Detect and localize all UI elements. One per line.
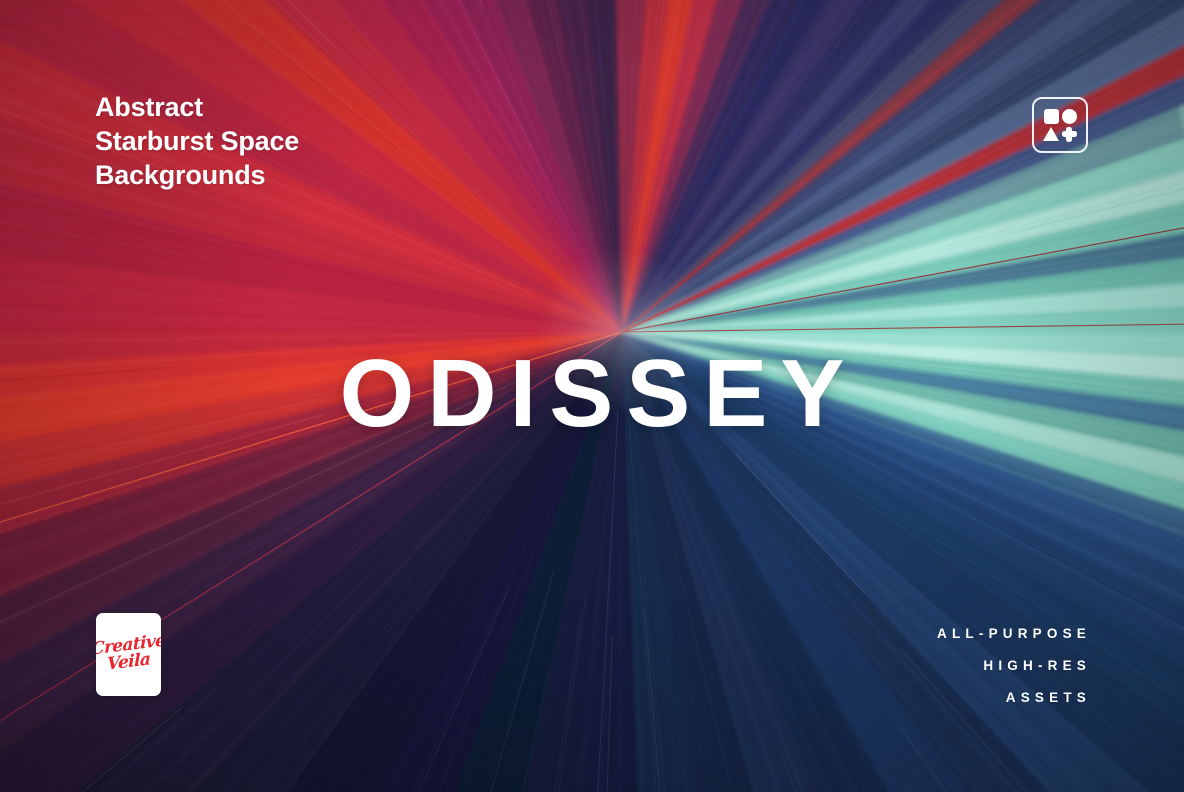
rounded-square-icon (1044, 109, 1059, 124)
headline-line-2: Starburst Space (95, 124, 299, 158)
headline-line-1: Abstract (95, 90, 299, 124)
tagline-line-3: ASSETS (937, 682, 1091, 714)
triangle-icon (1043, 127, 1059, 141)
poster-canvas: Abstract Starburst Space Backgrounds ODI… (0, 0, 1184, 792)
tagline-block: ALL-PURPOSE HIGH-RES ASSETS (937, 618, 1091, 714)
tagline-line-1: ALL-PURPOSE (937, 618, 1091, 650)
plus-icon (1062, 127, 1077, 142)
logo-line-2: Veila (107, 652, 150, 673)
headline-line-3: Backgrounds (95, 158, 299, 192)
circle-icon (1062, 109, 1077, 124)
poster-content: Abstract Starburst Space Backgrounds ODI… (0, 0, 1184, 792)
tagline-line-2: HIGH-RES (937, 650, 1091, 682)
page-title: Abstract Starburst Space Backgrounds (95, 90, 299, 192)
wordmark-odissey: ODISSEY (0, 344, 1184, 444)
creative-veila-logo: Creative Veila (96, 613, 161, 696)
shapes-badge-icon (1032, 97, 1088, 153)
